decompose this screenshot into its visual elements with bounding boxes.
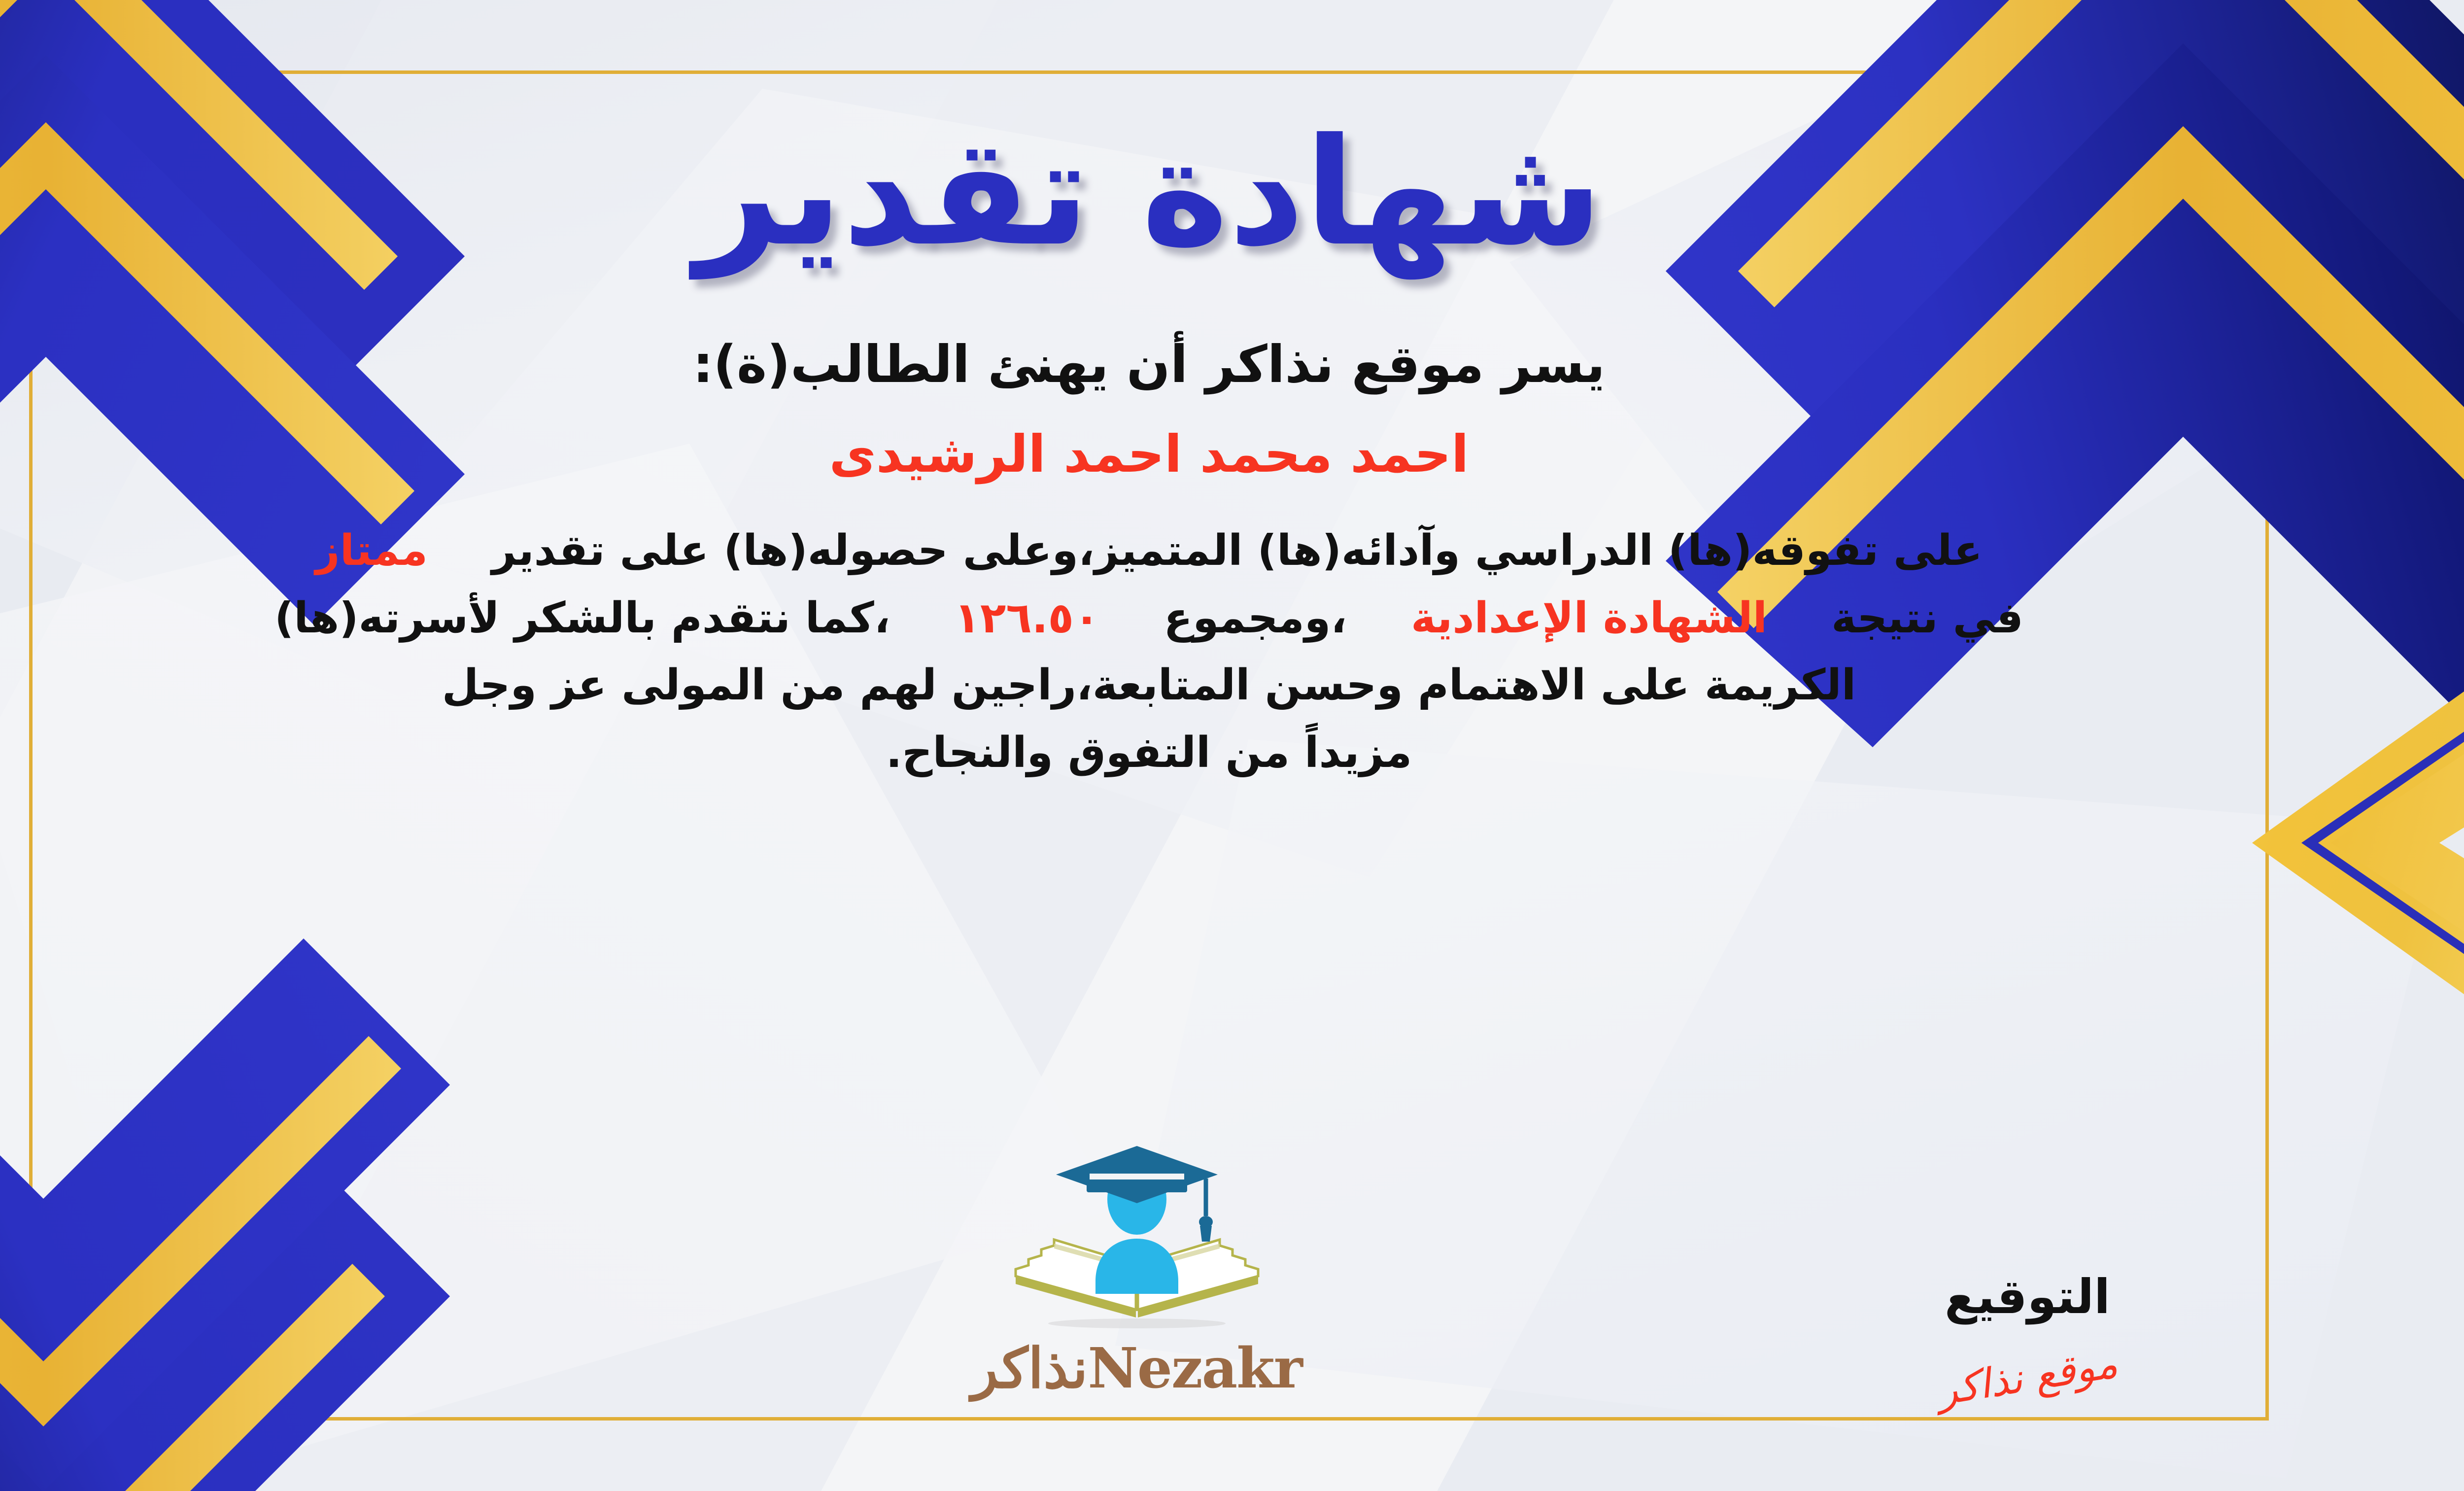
certificate-footer: التوقيع موقع نذاكر xyxy=(29,1142,2269,1401)
certificate-body: على تفوقه(ها) الدراسي وآدائه(ها) المتميز… xyxy=(29,519,2269,788)
site-logo: Nezakrنذاكر xyxy=(935,1142,1339,1401)
certificate-content: شهادة تقدير يسر موقع نذاكر أن يهنئ الطال… xyxy=(29,70,2269,1421)
signature-label: التوقيع xyxy=(1945,1269,2110,1324)
body-line-2-prefix: في نتيجة xyxy=(1831,593,2023,643)
body-line-1: على تفوقه(ها) الدراسي وآدائه(ها) المتميز… xyxy=(54,519,2244,583)
body-line-1-text: على تفوقه(ها) الدراسي وآدائه(ها) المتميز… xyxy=(492,526,1983,575)
signature-script: موقع نذاكر xyxy=(1934,1340,2121,1415)
body-line-3: الكريمة على الاهتمام وحسن المتابعة،راجين… xyxy=(54,653,2244,718)
logo-wordmark: Nezakrنذاكر xyxy=(971,1336,1302,1401)
graduate-book-icon xyxy=(999,1142,1275,1334)
certificate-page: شهادة تقدير يسر موقع نذاكر أن يهنئ الطال… xyxy=(0,0,2464,1491)
intro-text: يسر موقع نذاكر أن يهنئ الطالب(ة): xyxy=(29,334,2269,394)
signature-block: التوقيع موقع نذاكر xyxy=(1840,1269,2215,1401)
certificate-title: شهادة تقدير xyxy=(29,115,2269,270)
grade-value: ممتاز xyxy=(315,526,428,575)
body-line-2: في نتيجة الشهادة الإعدادية ،ومجموع ١٢٦.٥… xyxy=(54,586,2244,651)
total-score-value: ١٢٦.٥٠ xyxy=(954,593,1099,643)
body-line-4: مزيداً من التفوق والنجاح. xyxy=(54,721,2244,785)
student-name: احمد محمد احمد الرشيدى xyxy=(29,424,2269,484)
exam-name-value: الشهادة الإعدادية xyxy=(1411,593,1767,643)
body-line-2-middle: ،ومجموع xyxy=(1164,593,1347,643)
body-line-2-suffix: ،كما نتقدم بالشكر لأسرته(ها) xyxy=(274,593,890,643)
